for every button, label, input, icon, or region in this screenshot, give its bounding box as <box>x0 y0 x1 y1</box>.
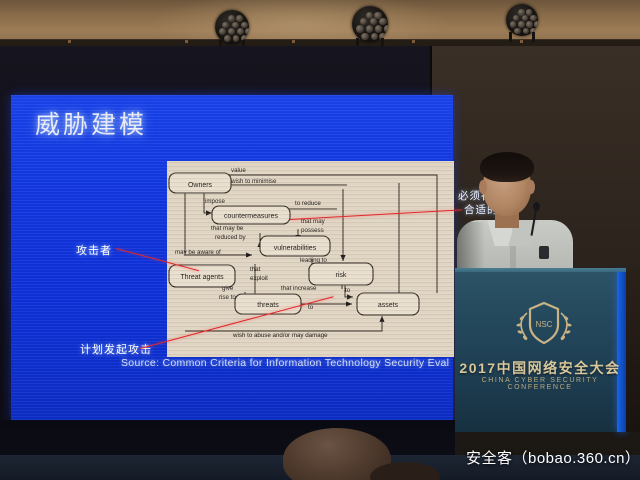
microphone-icon <box>533 202 540 211</box>
annotation-plan-attack: 计划发起攻击 <box>80 341 152 357</box>
led-lamp <box>236 15 243 22</box>
led-lamp <box>228 28 235 35</box>
led-lamp <box>510 21 516 27</box>
speaker-ear <box>527 180 535 194</box>
podium-right-wall <box>626 268 640 432</box>
annotation-attacker: 攻击者 <box>76 242 112 258</box>
stage-light-icon <box>352 6 388 42</box>
led-lamp <box>518 21 524 27</box>
watermark: 安全客（bobao.360.cn） <box>466 447 640 468</box>
led-lamp <box>224 35 231 42</box>
led-lamp <box>526 21 532 27</box>
led-lamp <box>375 25 382 32</box>
truss-bolt <box>520 40 523 43</box>
speaker-ear <box>479 180 487 194</box>
led-lamp <box>523 28 529 34</box>
led-lamp <box>245 28 249 35</box>
truss-bolt <box>68 40 71 43</box>
led-lamp <box>237 28 244 35</box>
stage-light-icon <box>506 4 538 36</box>
led-lamp <box>222 22 229 29</box>
stage-light-icon <box>215 10 249 44</box>
truss-bolt <box>292 40 295 43</box>
conference-photo: 威胁建模 Source: Common Criteria for Informa… <box>0 0 640 480</box>
led-lamp <box>219 28 226 35</box>
truss-bolt <box>412 40 415 43</box>
slide-source-caption: Source: Common Criteria for Information … <box>121 357 449 369</box>
diagram-texture <box>167 161 454 357</box>
podium-title-en: CHINA CYBER SECURITY CONFERENCE <box>455 377 625 391</box>
led-lamp <box>232 22 239 29</box>
slide-title: 威胁建模 <box>35 105 147 141</box>
led-lamp <box>361 33 368 40</box>
led-lamp <box>360 18 367 25</box>
led-lamp <box>371 33 378 40</box>
truss-bolt <box>185 40 188 43</box>
led-lamp <box>370 18 377 25</box>
led-lamp <box>366 25 373 32</box>
podium-title-cn: 2017中国网络安全大会 <box>455 358 625 378</box>
led-lamp <box>514 28 520 34</box>
led-lamp <box>384 25 388 32</box>
led-lamp <box>379 18 386 25</box>
led-lamp <box>356 25 363 32</box>
speaker-badge <box>539 246 549 259</box>
emblem-text: NSC <box>536 320 553 329</box>
podium-led-strip <box>617 272 626 432</box>
led-lamp <box>233 35 240 42</box>
security-concepts-diagram: Owners countermeasures vulnerabilities T… <box>167 161 454 357</box>
led-lamp <box>534 21 538 27</box>
led-lamp <box>241 22 248 29</box>
conference-emblem-icon: NSC <box>505 295 583 351</box>
speaker-hair <box>480 152 534 182</box>
